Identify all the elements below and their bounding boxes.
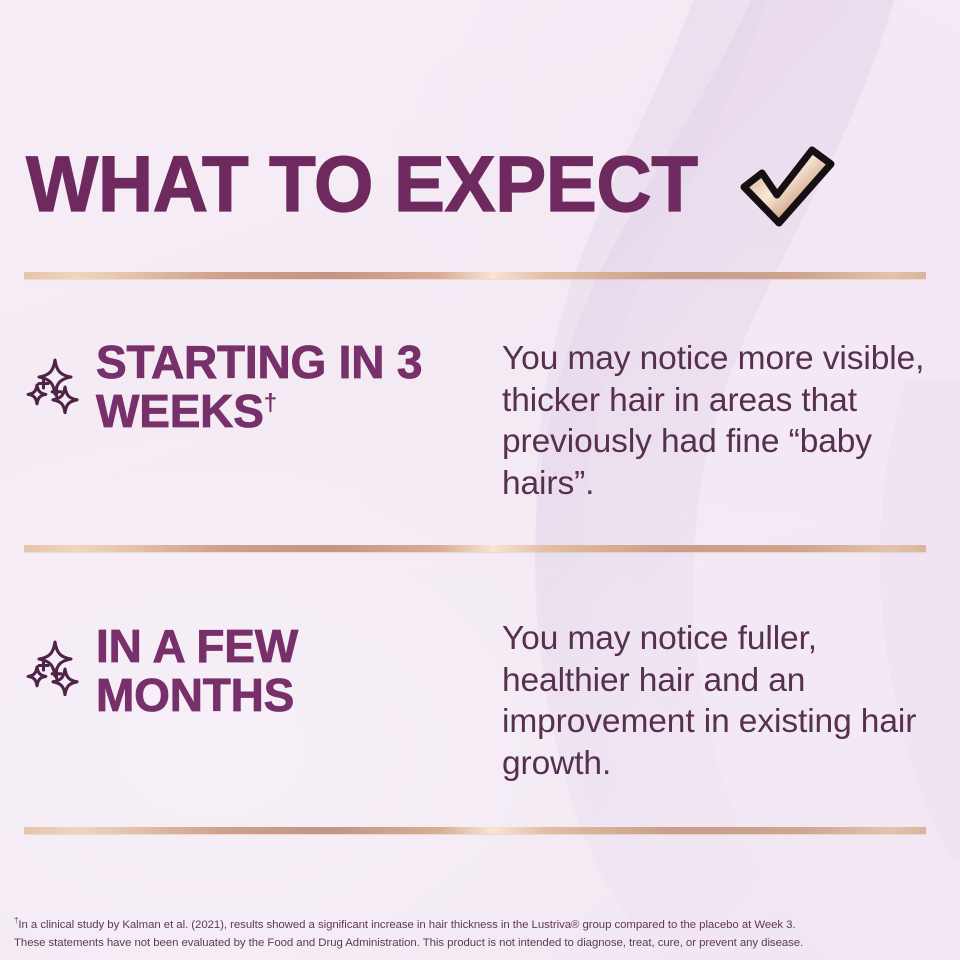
page-title-row: WHAT TO EXPECT	[26, 136, 934, 232]
what-to-expect-card: WHAT TO EXPECT	[0, 0, 960, 960]
sparkles-icon-cell	[24, 608, 96, 703]
section-heading-cell: STARTING IN 3 WEEKS†	[96, 338, 494, 436]
check-mark-icon	[732, 140, 840, 232]
section-heading: STARTING IN 3 WEEKS†	[96, 338, 486, 436]
section-heading-text: STARTING IN 3 WEEKS	[96, 336, 422, 437]
divider-top	[24, 272, 926, 279]
footnote-clinical-study-text: In a clinical study by Kalman et al. (20…	[18, 919, 795, 931]
section-heading: IN A FEW MONTHS	[96, 608, 486, 720]
sparkles-icon-cell	[24, 338, 96, 421]
section-heading-dagger: †	[264, 389, 277, 416]
sparkles-icon	[24, 636, 86, 698]
footnotes: †In a clinical study by Kalman et al. (2…	[14, 915, 944, 953]
sparkles-icon	[24, 354, 86, 416]
footnote-fda-disclaimer: These statements have not been evaluated…	[14, 934, 944, 952]
expectation-section-starting-in-3-weeks: STARTING IN 3 WEEKS† You may notice more…	[24, 338, 930, 504]
expectation-section-in-a-few-months: IN A FEW MONTHS You may notice fuller, h…	[24, 608, 930, 784]
page-title: WHAT TO EXPECT	[26, 146, 698, 222]
section-body: You may notice fuller, healthier hair an…	[502, 608, 930, 784]
section-body-cell: You may notice more visible, thicker hai…	[494, 338, 930, 504]
footnote-clinical-study: †In a clinical study by Kalman et al. (2…	[14, 915, 944, 934]
divider-bottom	[24, 827, 926, 834]
divider-middle	[24, 545, 926, 552]
section-body: You may notice more visible, thicker hai…	[502, 338, 930, 504]
section-heading-text: IN A FEW MONTHS	[96, 620, 298, 721]
section-heading-cell: IN A FEW MONTHS	[96, 608, 494, 720]
section-body-cell: You may notice fuller, healthier hair an…	[494, 608, 930, 784]
